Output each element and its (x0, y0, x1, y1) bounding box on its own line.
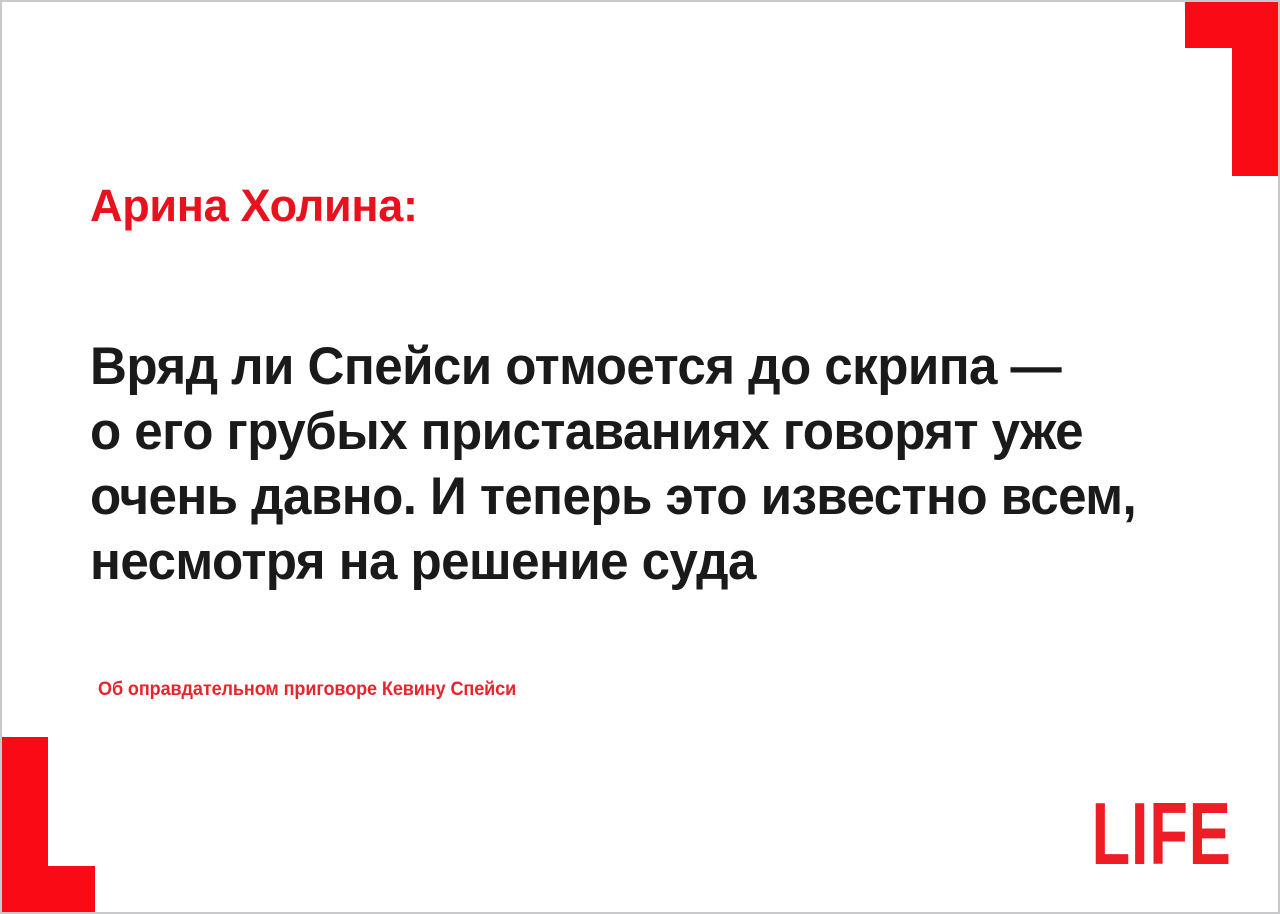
corner-mark-stem (1232, 0, 1280, 176)
quote-line: несмотря на решение суда (90, 529, 1161, 594)
quote-line: о его грубых приставаниях говорят уже (90, 399, 1161, 464)
quote-line: Вряд ли Спейси отмоется до скрипа — (90, 334, 1161, 399)
quote-subject-caption: Об оправдательном приговоре Кевину Спейс… (98, 678, 516, 702)
quote-card: Арина Холина: Вряд ли Спейси отмоется до… (0, 0, 1280, 914)
corner-mark-bottom-left-icon (0, 737, 95, 914)
quote-line: очень давно. И теперь это известно всем, (90, 464, 1161, 529)
corner-mark-arm (0, 866, 95, 914)
life-brand-logo: LIFE (1092, 802, 1232, 866)
author-name: Арина Холина: (90, 181, 418, 231)
corner-mark-top-right-icon (1185, 0, 1280, 176)
card-content: Арина Холина: Вряд ли Спейси отмоется до… (90, 0, 1190, 914)
quote-text: Вряд ли Спейси отмоется до скрипа — о ег… (90, 334, 1161, 594)
